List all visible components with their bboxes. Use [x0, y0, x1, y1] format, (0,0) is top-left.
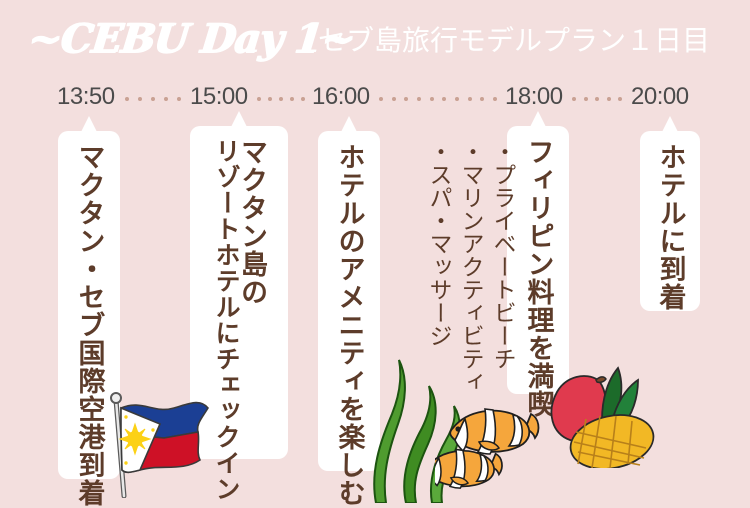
timeline-dots-3 [379, 97, 497, 101]
card-1-text: マクタン・セブ国際空港到着 [76, 143, 103, 507]
mango-pineapple-icon [538, 358, 663, 473]
timeline: 13:50 15:00 16:00 18:00 20:00 [0, 83, 750, 115]
card-2-text-line-2: リゾートホテルにチェックイン [213, 138, 238, 502]
bullet-item-3: ・スパ・マッサージ [427, 140, 450, 347]
bullet-item-2: ・マリンアクティビティ [459, 140, 482, 393]
philippine-flag-icon [104, 386, 212, 503]
card-pointer-icon [662, 116, 678, 132]
timeline-dots-1 [125, 97, 181, 101]
time-label-5: 20:00 [631, 83, 689, 111]
itinerary-card-4[interactable]: フィリピン料理を満喫 [507, 126, 569, 394]
card-pointer-icon [530, 111, 546, 127]
card-pointer-icon [231, 111, 247, 127]
page-title-subtitle: セブ島旅行モデルプラン１日目 [318, 25, 710, 57]
time-label-3: 16:00 [312, 83, 370, 111]
itinerary-card-5[interactable]: ホテルに到着 [640, 131, 700, 311]
card-2-text-line-1: マクタン島の [238, 138, 265, 306]
time-label-4: 18:00 [505, 83, 563, 111]
time-label-1: 13:50 [57, 83, 115, 111]
page-header: ~CEBU Day 1~ セブ島旅行モデルプラン１日目 [0, 0, 750, 78]
time-label-2: 15:00 [190, 83, 248, 111]
card-pointer-icon [341, 116, 357, 132]
card-pointer-icon [81, 116, 97, 132]
timeline-dots-4 [572, 97, 622, 101]
page-title-script: ~CEBU Day 1~ [26, 17, 356, 61]
clownfish-icon [435, 398, 545, 503]
card-5-text: ホテルに到着 [657, 143, 684, 311]
card-3-text: ホテルのアメニティを楽しむ [336, 143, 363, 507]
bullet-item-1: ・プライベートビーチ [491, 140, 514, 370]
timeline-dots-2 [257, 97, 305, 101]
